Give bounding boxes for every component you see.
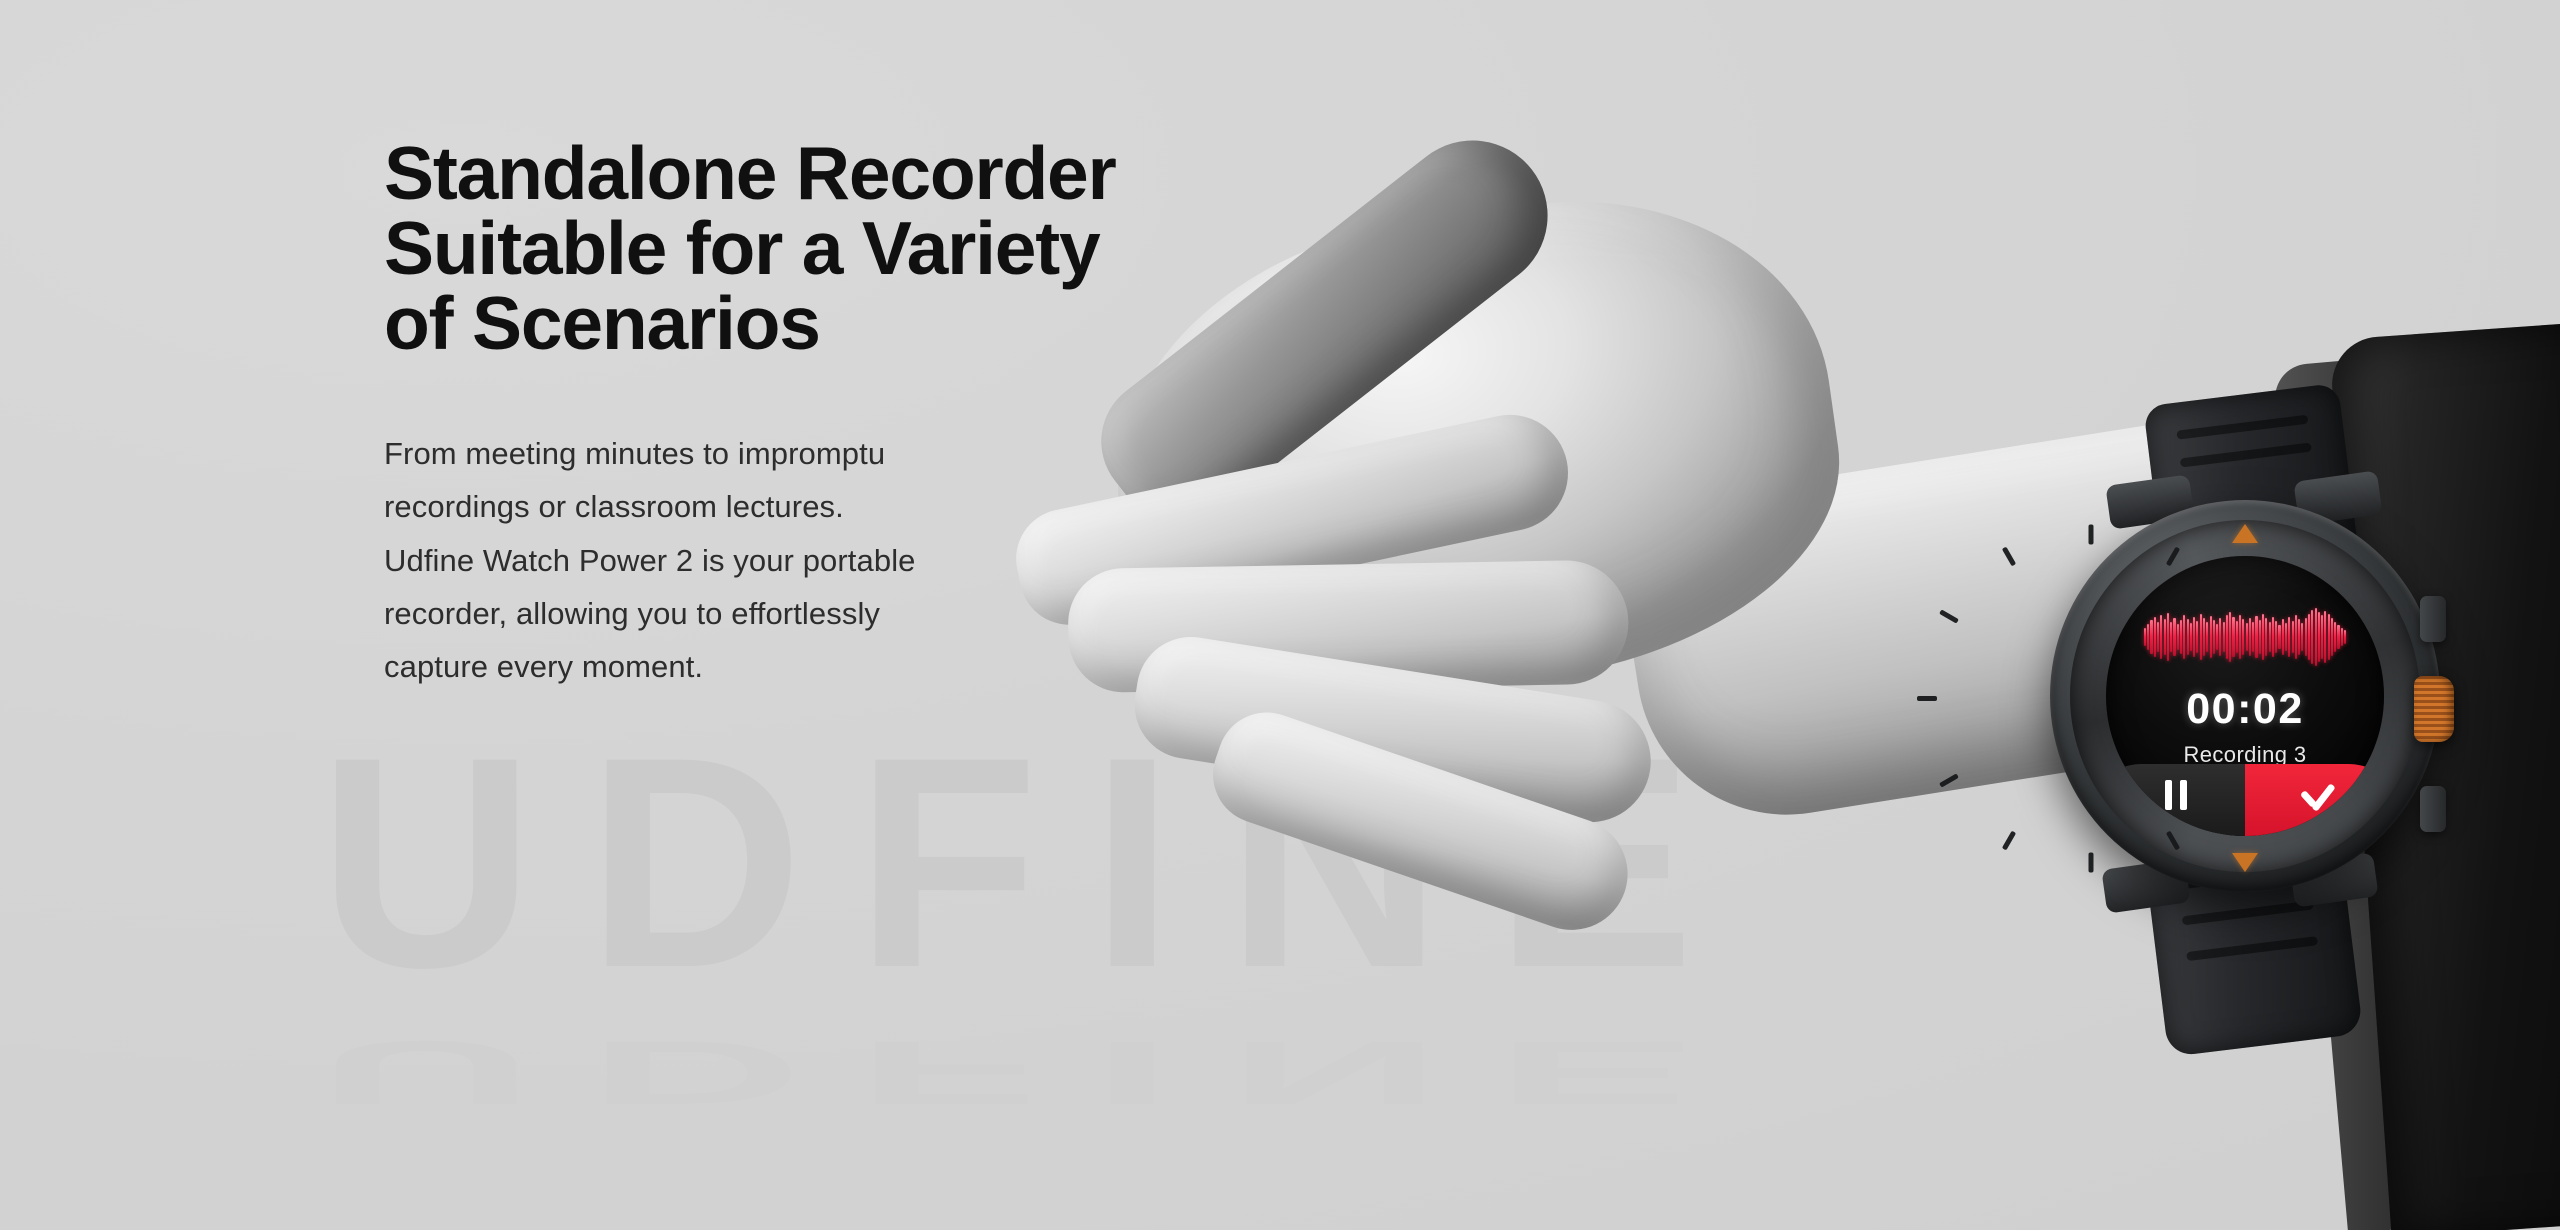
waveform-bar (2305, 618, 2307, 656)
page-title: Standalone Recorder Suitable for a Varie… (384, 136, 1394, 361)
waveform-bar (2216, 624, 2218, 650)
waveform-bar (2278, 625, 2280, 649)
watch-screen[interactable]: 00:02 Recording 3 (2106, 556, 2384, 836)
waveform-bar (2285, 623, 2287, 651)
waveform-bar (2226, 615, 2228, 659)
waveform-bar (2337, 625, 2339, 649)
rotating-crown[interactable] (2414, 676, 2454, 742)
watch-case: 00:02 Recording 3 (2050, 500, 2440, 892)
pause-button[interactable] (2106, 764, 2245, 836)
waveform-bar (2331, 618, 2333, 656)
waveform-bar (2193, 617, 2195, 657)
side-button-top[interactable] (2420, 596, 2446, 642)
smartwatch: 00:02 Recording 3 (2042, 486, 2462, 926)
confirm-button[interactable] (2245, 764, 2384, 836)
waveform-bar (2239, 615, 2241, 659)
waveform-bar (2321, 615, 2323, 659)
waveform-bar (2288, 617, 2290, 657)
waveform-bar (2173, 618, 2175, 656)
bezel-tick (2166, 547, 2180, 567)
waveform-bar (2154, 617, 2156, 657)
bezel-tick (1917, 696, 1937, 701)
waveform-bar (2187, 619, 2189, 655)
waveform-bar (2269, 622, 2271, 652)
recorder-controls (2106, 764, 2384, 836)
waveform-bar (2203, 618, 2205, 656)
waveform-bar (2311, 610, 2313, 664)
waveform-bar (2177, 624, 2179, 650)
waveform-bar (2150, 620, 2152, 654)
hero-banner: UDFINE UDFINE Standalone Recorder Suitab… (0, 0, 2560, 1230)
waveform-bar (2170, 622, 2172, 652)
waveform-bar (2265, 618, 2267, 656)
waveform-bar (2275, 621, 2277, 653)
waveform-bar (2200, 614, 2202, 660)
body-paragraph: From meeting minutes to impromptu record… (384, 427, 1394, 694)
waveform-bar (2259, 620, 2261, 654)
waveform-bar (2324, 611, 2326, 663)
waveform-bar (2246, 623, 2248, 651)
waveform-bar (2249, 618, 2251, 656)
waveform-bar (2292, 621, 2294, 653)
waveform-bar (2318, 612, 2320, 662)
waveform-bar (2206, 622, 2208, 652)
waveform-bar (2147, 624, 2149, 650)
pause-icon (2165, 780, 2187, 810)
waveform-bar (2308, 614, 2310, 660)
waveform-bar (2252, 622, 2254, 652)
waveform-bar (2213, 620, 2215, 654)
audio-waveform (2128, 610, 2362, 664)
waveform-bar (2196, 621, 2198, 653)
check-icon (2298, 783, 2332, 807)
waveform-bar (2262, 614, 2264, 660)
bezel-tick (2089, 853, 2094, 873)
waveform-bar (2157, 622, 2159, 652)
waveform-bar (2167, 613, 2169, 661)
bezel-marker-top-icon (2232, 524, 2258, 543)
waveform-bar (2301, 623, 2303, 651)
waveform-bar (2344, 630, 2346, 644)
bezel-marker-bottom-icon (2232, 853, 2258, 872)
recording-timer: 00:02 (2106, 688, 2384, 731)
side-button-bottom[interactable] (2420, 786, 2446, 832)
waveform-bar (2334, 622, 2336, 652)
waveform-bar (2255, 616, 2257, 658)
waveform-bar (2164, 619, 2166, 655)
bezel-tick (2089, 525, 2094, 545)
waveform-bar (2295, 615, 2297, 659)
waveform-bar (2272, 617, 2274, 657)
waveform-bar (2180, 620, 2182, 654)
waveform-bar (2232, 617, 2234, 657)
waveform-bar (2328, 614, 2330, 660)
waveform-bar (2160, 615, 2162, 659)
waveform-bar (2236, 621, 2238, 653)
waveform-bar (2190, 623, 2192, 651)
waveform-bar (2183, 615, 2185, 659)
waveform-bar (2315, 608, 2317, 666)
waveform-bar (2298, 619, 2300, 655)
copy-block: Standalone Recorder Suitable for a Varie… (384, 136, 1394, 694)
waveform-bar (2223, 622, 2225, 652)
waveform-bar (2341, 628, 2343, 646)
waveform-bar (2210, 616, 2212, 658)
waveform-bar (2282, 619, 2284, 655)
waveform-bar (2242, 619, 2244, 655)
waveform-bar (2144, 628, 2146, 646)
waveform-bar (2229, 612, 2231, 662)
waveform-bar (2219, 618, 2221, 656)
